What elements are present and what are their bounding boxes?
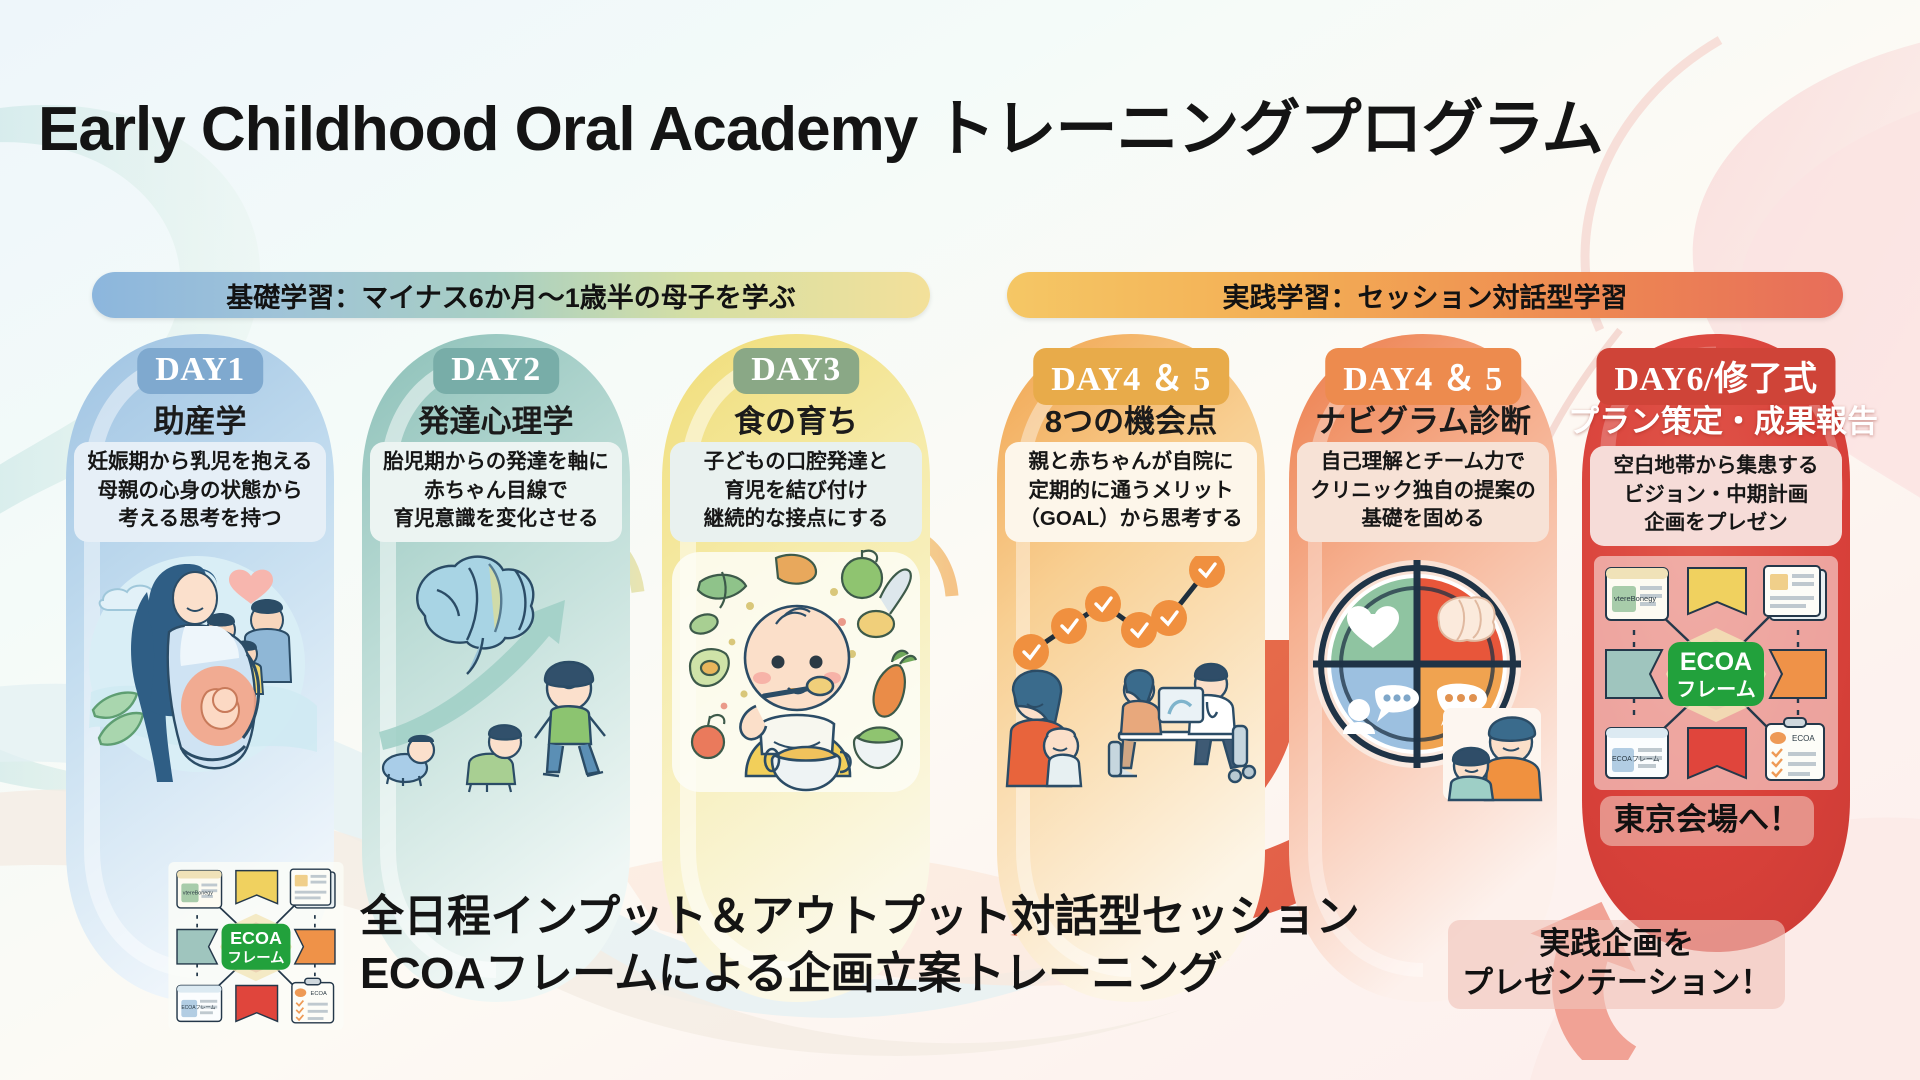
desc-line: 継続的な接点にする bbox=[676, 505, 916, 534]
ecoa-card-label-bottom-right: ECOA bbox=[311, 991, 327, 997]
desc-line: 赤ちゃん目線で bbox=[376, 477, 616, 506]
desc-line: 定期的に通うメリット bbox=[1011, 477, 1251, 506]
page-title: Early Childhood Oral Academy トレーニングプログラム bbox=[38, 78, 1603, 168]
desc-line: 育児意識を変化させる bbox=[376, 505, 616, 534]
desc-line: 妊娠期から乳児を抱える bbox=[80, 448, 320, 477]
section-banner-basic: 基礎学習：マイナス6か月～1歳半の母子を学ぶ bbox=[92, 272, 930, 318]
desc-line: 胎児期からの発達を軸に bbox=[376, 448, 616, 477]
brain-growth-children-illustration bbox=[363, 546, 629, 794]
note-line: 実践企画を bbox=[1462, 924, 1771, 963]
desc-line: クリニック独自の提案の bbox=[1303, 477, 1543, 506]
desc-line: 基礎を固める bbox=[1303, 505, 1543, 534]
bottom-summary-text: 全日程インプット＆アウトプット対話型セッション ECOAフレームによる企画立案ト… bbox=[360, 888, 1359, 1002]
subject-title-day6: プラン策定・成果報告 bbox=[1568, 396, 1864, 441]
desc-line: 自己理解とチーム力で bbox=[1303, 448, 1543, 477]
desc-line: 企画をプレゼン bbox=[1596, 509, 1836, 538]
desc-line: 子どもの口腔発達と bbox=[676, 448, 916, 477]
subject-title-opportunities: 8つの機会点 bbox=[983, 396, 1279, 441]
bottom-text-line-2: ECOAフレームによる企画立案トレーニング bbox=[360, 945, 1359, 1002]
description-box-opportunities: 親と赤ちゃんが自院に 定期的に通うメリット （GOAL）から思考する bbox=[1005, 442, 1257, 542]
ecoa-center-label-2: フレーム bbox=[228, 951, 285, 967]
ecoa-card-label-bottom-right: ECOA bbox=[1792, 734, 1815, 743]
desc-line: 親と赤ちゃんが自院に bbox=[1011, 448, 1251, 477]
note-presentation: 実践企画を プレゼンテーション！ bbox=[1448, 920, 1785, 1009]
note-line: プレゼンテーション！ bbox=[1462, 963, 1771, 1002]
description-box-day3: 子どもの口腔発達と 育児を結び付け 継続的な接点にする bbox=[670, 442, 922, 542]
desc-line: 母親の心身の状態から bbox=[80, 477, 320, 506]
pregnant-mother-family-illustration bbox=[69, 542, 331, 792]
ecoa-card-label-top-left: vtereBonegy bbox=[183, 890, 213, 896]
bottom-text-line-1: 全日程インプット＆アウトプット対話型セッション bbox=[360, 888, 1359, 945]
description-box-day1: 妊娠期から乳児を抱える 母親の心身の状態から 考える思考を持つ bbox=[74, 442, 326, 542]
description-box-day6: 空白地帯から集患する ビジョン・中期計画 企画をプレゼン bbox=[1590, 446, 1842, 546]
ecoa-card-label-top-left: vtereBonegy bbox=[1614, 594, 1656, 603]
subject-title-day3: 食の育ち bbox=[648, 396, 944, 441]
desc-line: 空白地帯から集患する bbox=[1596, 452, 1836, 481]
milestone-chart-consultation-illustration bbox=[997, 556, 1265, 806]
desc-line: 育児を結び付け bbox=[676, 477, 916, 506]
subject-title-day2: 発達心理学 bbox=[348, 396, 644, 441]
section-banner-practice: 実践学習：セッション対話型学習 bbox=[1007, 272, 1843, 318]
day-badge-day3: DAY3 bbox=[733, 348, 859, 394]
baby-eating-food-illustration bbox=[664, 546, 928, 796]
description-box-navigram: 自己理解とチーム力で クリニック独自の提案の 基礎を固める bbox=[1297, 442, 1549, 542]
description-box-day2: 胎児期からの発達を軸に 赤ちゃん目線で 育児意識を変化させる bbox=[370, 442, 622, 542]
note-line: 東京会場へ！ bbox=[1614, 800, 1800, 839]
note-tokyo-venue: 東京会場へ！ bbox=[1600, 796, 1814, 846]
ecoa-center-label-1: ECOA bbox=[230, 928, 282, 948]
day-badge-day1: DAY1 bbox=[137, 348, 263, 394]
ecoa-center-label-2: フレーム bbox=[1676, 679, 1755, 701]
desc-line: ビジョン・中期計画 bbox=[1596, 481, 1836, 510]
subject-title-day1: 助産学 bbox=[52, 396, 348, 441]
ecoa-center-label-1: ECOA bbox=[1680, 648, 1752, 676]
ecoa-frame-diagram: vtereBonegy ECOA フレーム ECOAフレーム bbox=[1594, 556, 1838, 790]
subject-title-navigram: ナビグラム診断 bbox=[1275, 396, 1571, 441]
desc-line: （GOAL）から思考する bbox=[1011, 505, 1251, 534]
ecoa-card-label-bottom-left: ECOAフレーム bbox=[181, 1005, 215, 1011]
day-badge-day2: DAY2 bbox=[433, 348, 559, 394]
ecoa-frame-diagram-bottom: vtereBonegy ECOA フレーム ECOAフレーム ECOA bbox=[168, 862, 344, 1030]
desc-line: 考える思考を持つ bbox=[80, 505, 320, 534]
